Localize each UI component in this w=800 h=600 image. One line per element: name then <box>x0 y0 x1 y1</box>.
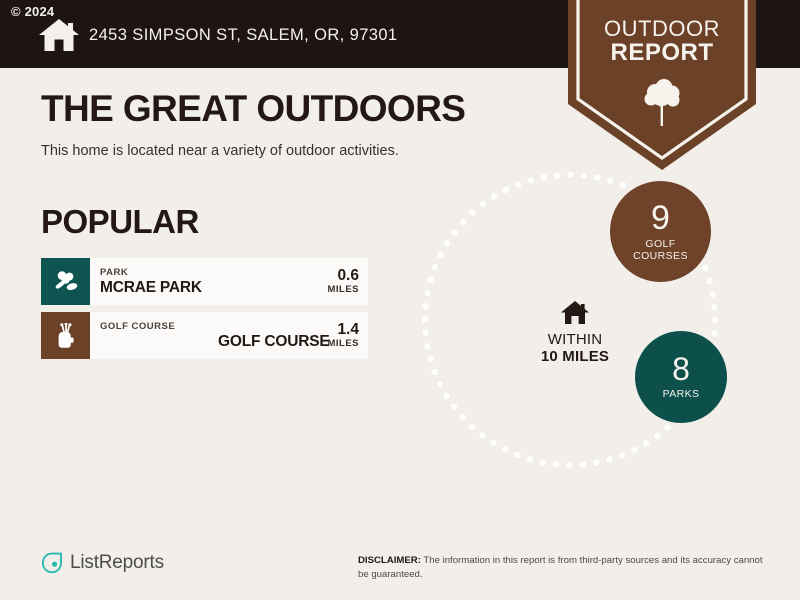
golf-bag-icon <box>41 312 90 359</box>
stat-value: 9 <box>651 201 670 235</box>
within-radius-diagram: WITHIN 10 MILES 9 GOLF COURSES 8 PARKS <box>420 168 780 480</box>
property-address: 2453 SIMPSON ST, SALEM, OR, 97301 <box>89 26 398 45</box>
list-item-category: GOLF COURSE <box>100 321 211 333</box>
disclaimer-label: DISCLAIMER: <box>358 555 421 566</box>
list-item-distance-value: 0.6 <box>327 268 359 284</box>
listreports-logo-icon <box>41 552 63 574</box>
copyright-label: © 2024 <box>11 4 54 19</box>
stat-label-line-1: GOLF <box>645 238 675 250</box>
list-item-texts: PARK MCRAE PARK <box>100 267 202 297</box>
page-subtitle: This home is located near a variety of o… <box>41 143 399 159</box>
list-item-body: PARK MCRAE PARK 0.6 MILES <box>90 258 368 305</box>
within-line-1: WITHIN <box>515 331 635 348</box>
stat-circle-golf-courses: 9 GOLF COURSES <box>610 181 711 282</box>
page-title: THE GREAT OUTDOORS <box>41 88 465 130</box>
stat-label-line-2: COURSES <box>633 250 688 262</box>
list-item-distance-value: 1.4 <box>327 322 359 338</box>
popular-list: PARK MCRAE PARK 0.6 MILES <box>41 258 368 366</box>
outdoor-report-badge: OUTDOOR REPORT <box>568 0 756 170</box>
list-item[interactable]: PARK MCRAE PARK 0.6 MILES <box>41 258 368 305</box>
stat-circle-parks: 8 PARKS <box>635 331 727 423</box>
within-line-2: 10 MILES <box>515 348 635 365</box>
disclaimer: DISCLAIMER: The information in this repo… <box>358 554 770 583</box>
list-item-distance: 0.6 MILES <box>321 268 359 294</box>
list-item-name: GOLF COURSE <box>218 333 329 351</box>
section-title-popular: POPULAR <box>41 203 199 241</box>
list-item-category: PARK <box>100 267 202 279</box>
list-item-texts: GOLF COURSE GOLF COURSE <box>100 321 211 351</box>
list-item[interactable]: GOLF COURSE GOLF COURSE 1.4 MILES <box>41 312 368 359</box>
tree-icon <box>642 78 682 128</box>
listreports-logo-text: ListReports <box>70 552 164 574</box>
house-icon <box>38 18 80 52</box>
list-item-distance-unit: MILES <box>327 285 359 295</box>
outdoor-report-page: © 2024 2453 SIMPSON ST, SALEM, OR, 97301… <box>0 0 800 600</box>
within-radius-label: WITHIN 10 MILES <box>515 300 635 366</box>
list-item-name: MCRAE PARK <box>100 279 202 297</box>
park-icon <box>41 258 90 305</box>
listreports-logo[interactable]: ListReports <box>41 552 164 574</box>
list-item-distance-unit: MILES <box>327 339 359 349</box>
stat-value: 8 <box>672 353 690 385</box>
stat-label-line-1: PARKS <box>663 388 700 400</box>
list-item-body: GOLF COURSE GOLF COURSE 1.4 MILES <box>90 312 368 359</box>
house-icon <box>560 300 590 325</box>
